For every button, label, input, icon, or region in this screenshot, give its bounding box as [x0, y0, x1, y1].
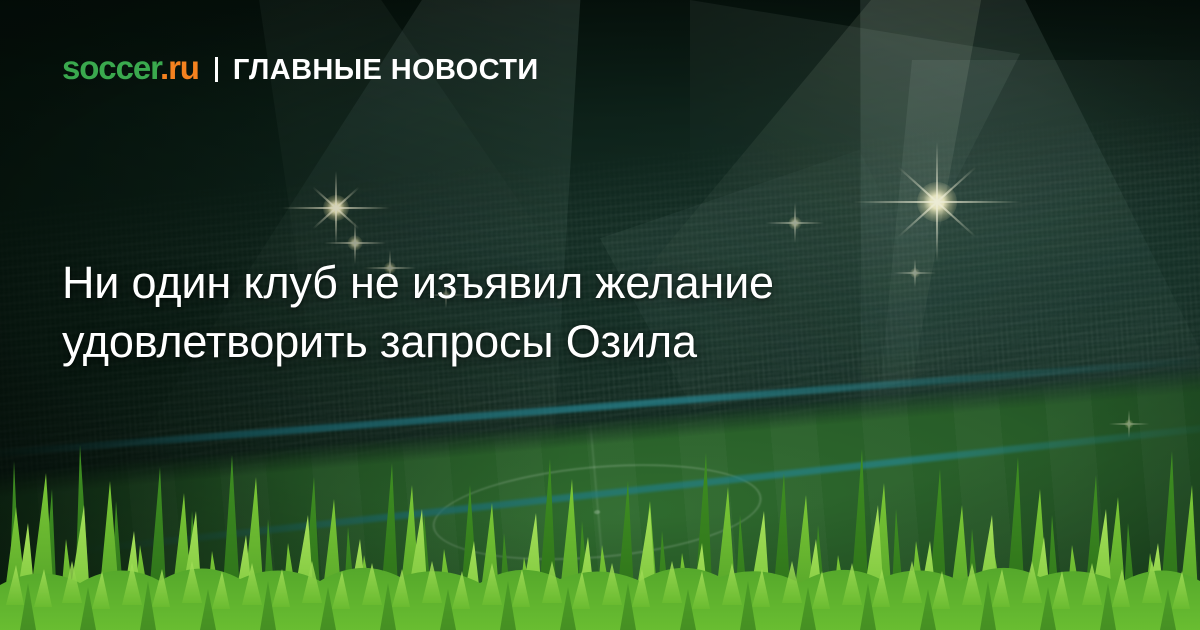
- card-content: soccer.ru ГЛАВНЫЕ НОВОСТИ Ни один клуб н…: [0, 0, 1200, 630]
- logo-suffix-text: .ru: [160, 49, 199, 86]
- site-logo[interactable]: soccer.ru: [62, 51, 199, 84]
- logo-primary-text: soccer: [62, 49, 160, 86]
- headline-line-2: удовлетворить запросы Озила: [62, 313, 1072, 372]
- section-label: ГЛАВНЫЕ НОВОСТИ: [233, 56, 539, 85]
- headline-line-1: Ни один клуб не изъявил желание: [62, 254, 1072, 313]
- news-share-card: soccer.ru ГЛАВНЫЕ НОВОСТИ Ни один клуб н…: [0, 0, 1200, 630]
- page-title: Ни один клуб не изъявил желание удовлетв…: [62, 254, 1072, 372]
- brand-header[interactable]: soccer.ru ГЛАВНЫЕ НОВОСТИ: [62, 51, 539, 85]
- header-separator: [215, 57, 218, 82]
